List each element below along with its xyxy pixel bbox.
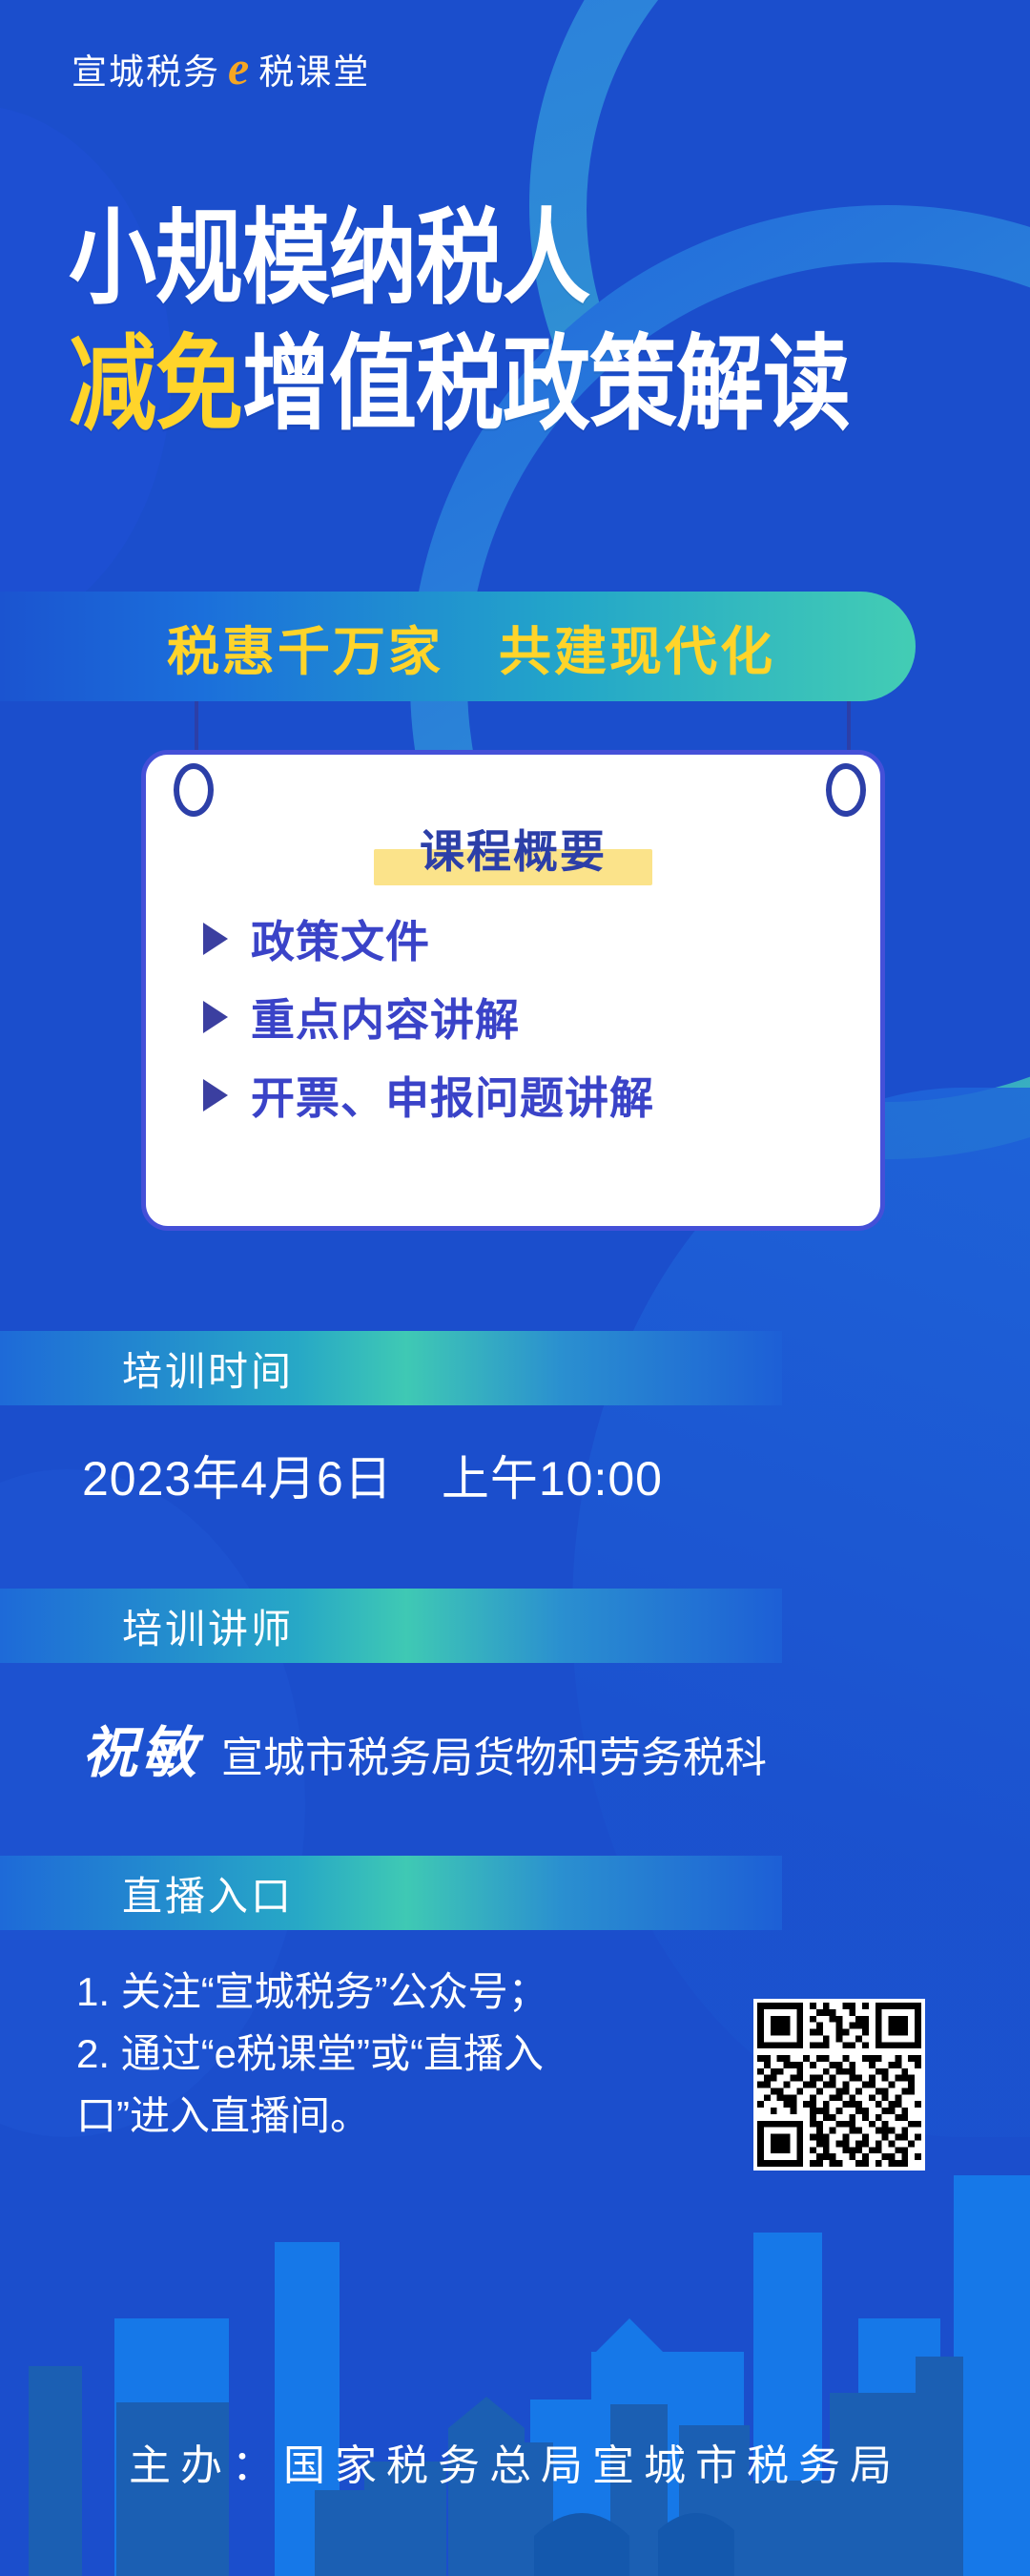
card-bullet-list: 政策文件 重点内容讲解 开票、申报问题讲解	[146, 906, 880, 1128]
footer-organizer: 主办：国家税务总局宣城市税务局	[0, 2431, 1030, 2492]
instruction-line-3: 口”进入直播间。	[76, 2085, 610, 2147]
title-highlight: 减免	[69, 327, 242, 442]
list-item-label: 开票、申报问题讲解	[251, 1064, 654, 1127]
live-entry-instructions: 1. 关注“宣城税务”公众号； 2. 通过“e税课堂”或“直播入 口”进入直播间…	[76, 1961, 610, 2147]
list-item: 开票、申报问题讲解	[203, 1063, 880, 1128]
list-item: 重点内容讲解	[203, 985, 880, 1049]
card-ring-right-icon	[826, 763, 866, 817]
training-time-value: 2023年4月6日 上午10:00	[82, 1441, 663, 1509]
page-title: 小规模纳税人 减免增值税政策解读	[69, 205, 850, 423]
title-rest: 增值税政策解读	[242, 327, 850, 442]
card-title-wrap: 课程概要	[146, 815, 880, 889]
qr-code-icon[interactable]	[753, 1999, 925, 2171]
section-label-text: 培训时间	[122, 1340, 294, 1398]
list-item-label: 政策文件	[251, 907, 430, 970]
triangle-right-icon	[203, 923, 228, 955]
qr-code-svg	[757, 2003, 921, 2167]
slogan-text: 税惠千万家 共建现代化	[167, 609, 775, 685]
trainer-name: 祝敏	[82, 1708, 200, 1788]
instruction-line-1: 1. 关注“宣城税务”公众号；	[76, 1961, 610, 2023]
list-item: 政策文件	[203, 906, 880, 971]
city-skyline-icon	[0, 2175, 1030, 2576]
brand-prefix: 宣城税务	[72, 43, 220, 94]
title-line-2: 减免增值税政策解读	[69, 331, 850, 440]
brand-e-icon: e	[228, 44, 251, 92]
section-label-text: 直播入口	[122, 1864, 294, 1922]
brand-suffix: 税课堂	[258, 43, 370, 94]
list-item-label: 重点内容讲解	[251, 986, 520, 1049]
brand-logo: 宣城税务 e 税课堂	[72, 43, 370, 94]
course-outline-card: 课程概要 政策文件 重点内容讲解 开票、申报问题讲解	[141, 750, 885, 1231]
section-label-live-entry: 直播入口	[0, 1856, 782, 1930]
card-title: 课程概要	[146, 815, 880, 881]
triangle-right-icon	[203, 1079, 228, 1111]
section-label-text: 培训讲师	[122, 1597, 294, 1655]
poster-root: 宣城税务 e 税课堂 小规模纳税人 减免增值税政策解读 税惠千万家 共建现代化 …	[0, 0, 1030, 2576]
trainer-department: 宣城市税务局货物和劳务税科	[221, 1723, 767, 1784]
slogan-banner: 税惠千万家 共建现代化	[0, 592, 916, 701]
section-label-trainer: 培训讲师	[0, 1589, 782, 1663]
trainer-value: 祝敏 宣城市税务局货物和劳务税科	[82, 1708, 767, 1788]
section-label-training-time: 培训时间	[0, 1331, 782, 1405]
triangle-right-icon	[203, 1001, 228, 1033]
card-ring-left-icon	[174, 763, 214, 817]
title-line-1: 小规模纳税人	[69, 205, 850, 314]
instruction-line-2: 2. 通过“e税课堂”或“直播入	[76, 2023, 610, 2085]
